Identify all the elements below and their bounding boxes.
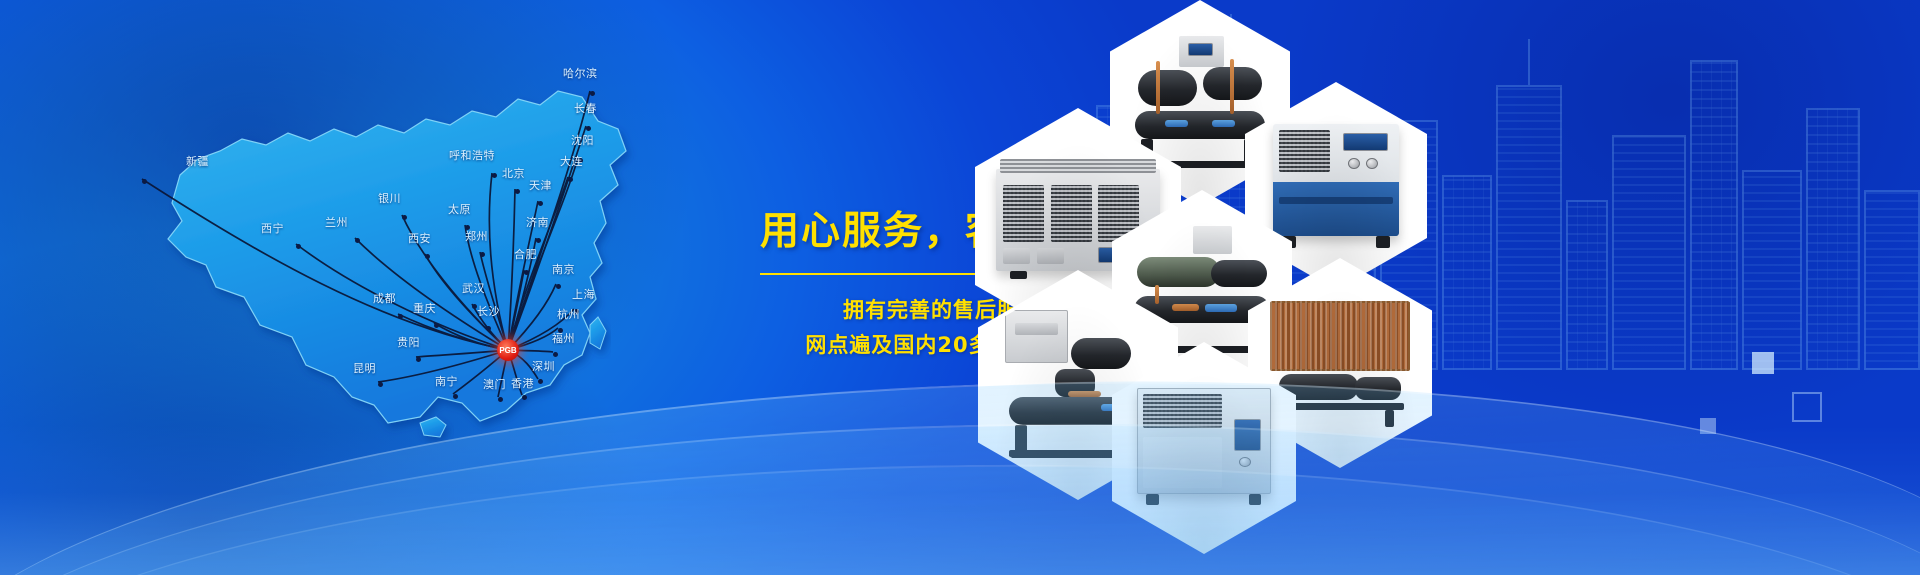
city-label-taiyuan: 太原: [448, 201, 471, 217]
city-label-tianjin: 天津: [529, 177, 552, 193]
city-label-hohhot: 呼和浩特: [449, 147, 495, 163]
machine-portable-chiller: [1261, 116, 1411, 256]
city-label-chengdu: 成都: [373, 290, 396, 306]
city-label-shenyang: 沈阳: [571, 132, 594, 148]
city-label-chongqing: 重庆: [413, 300, 436, 316]
city-label-zhengzhou: 郑州: [465, 228, 488, 244]
city-label-changsha: 长沙: [477, 303, 500, 319]
city-label-nanjing: 南京: [552, 261, 575, 277]
city-label-shanghai: 上海: [572, 286, 595, 302]
city-label-xining: 西宁: [261, 220, 284, 236]
city-label-lanzhou: 兰州: [325, 214, 348, 230]
city-label-jinan: 济南: [526, 214, 549, 230]
city-label-xinjiang: 新疆: [186, 153, 209, 169]
city-label-beijing: 北京: [502, 165, 525, 181]
city-label-dalian: 大连: [560, 153, 583, 169]
city-label-fuzhou: 福州: [552, 330, 575, 346]
city-label-hefei: 合肥: [514, 246, 537, 262]
bottom-glow: [0, 425, 1920, 575]
city-label-haerbin: 哈尔滨: [563, 65, 598, 81]
city-label-wuhan: 武汉: [462, 280, 485, 296]
city-label-hangzhou: 杭州: [557, 306, 580, 322]
service-network-banner: 新疆 哈尔滨 长春 沈阳 呼和浩特 北京 大连 天津 银川 太原 兰州 西宁 西…: [0, 0, 1920, 575]
city-label-yinchuan: 银川: [378, 190, 401, 206]
city-label-xian: 西安: [408, 230, 431, 246]
city-label-changchun: 长春: [574, 100, 597, 116]
